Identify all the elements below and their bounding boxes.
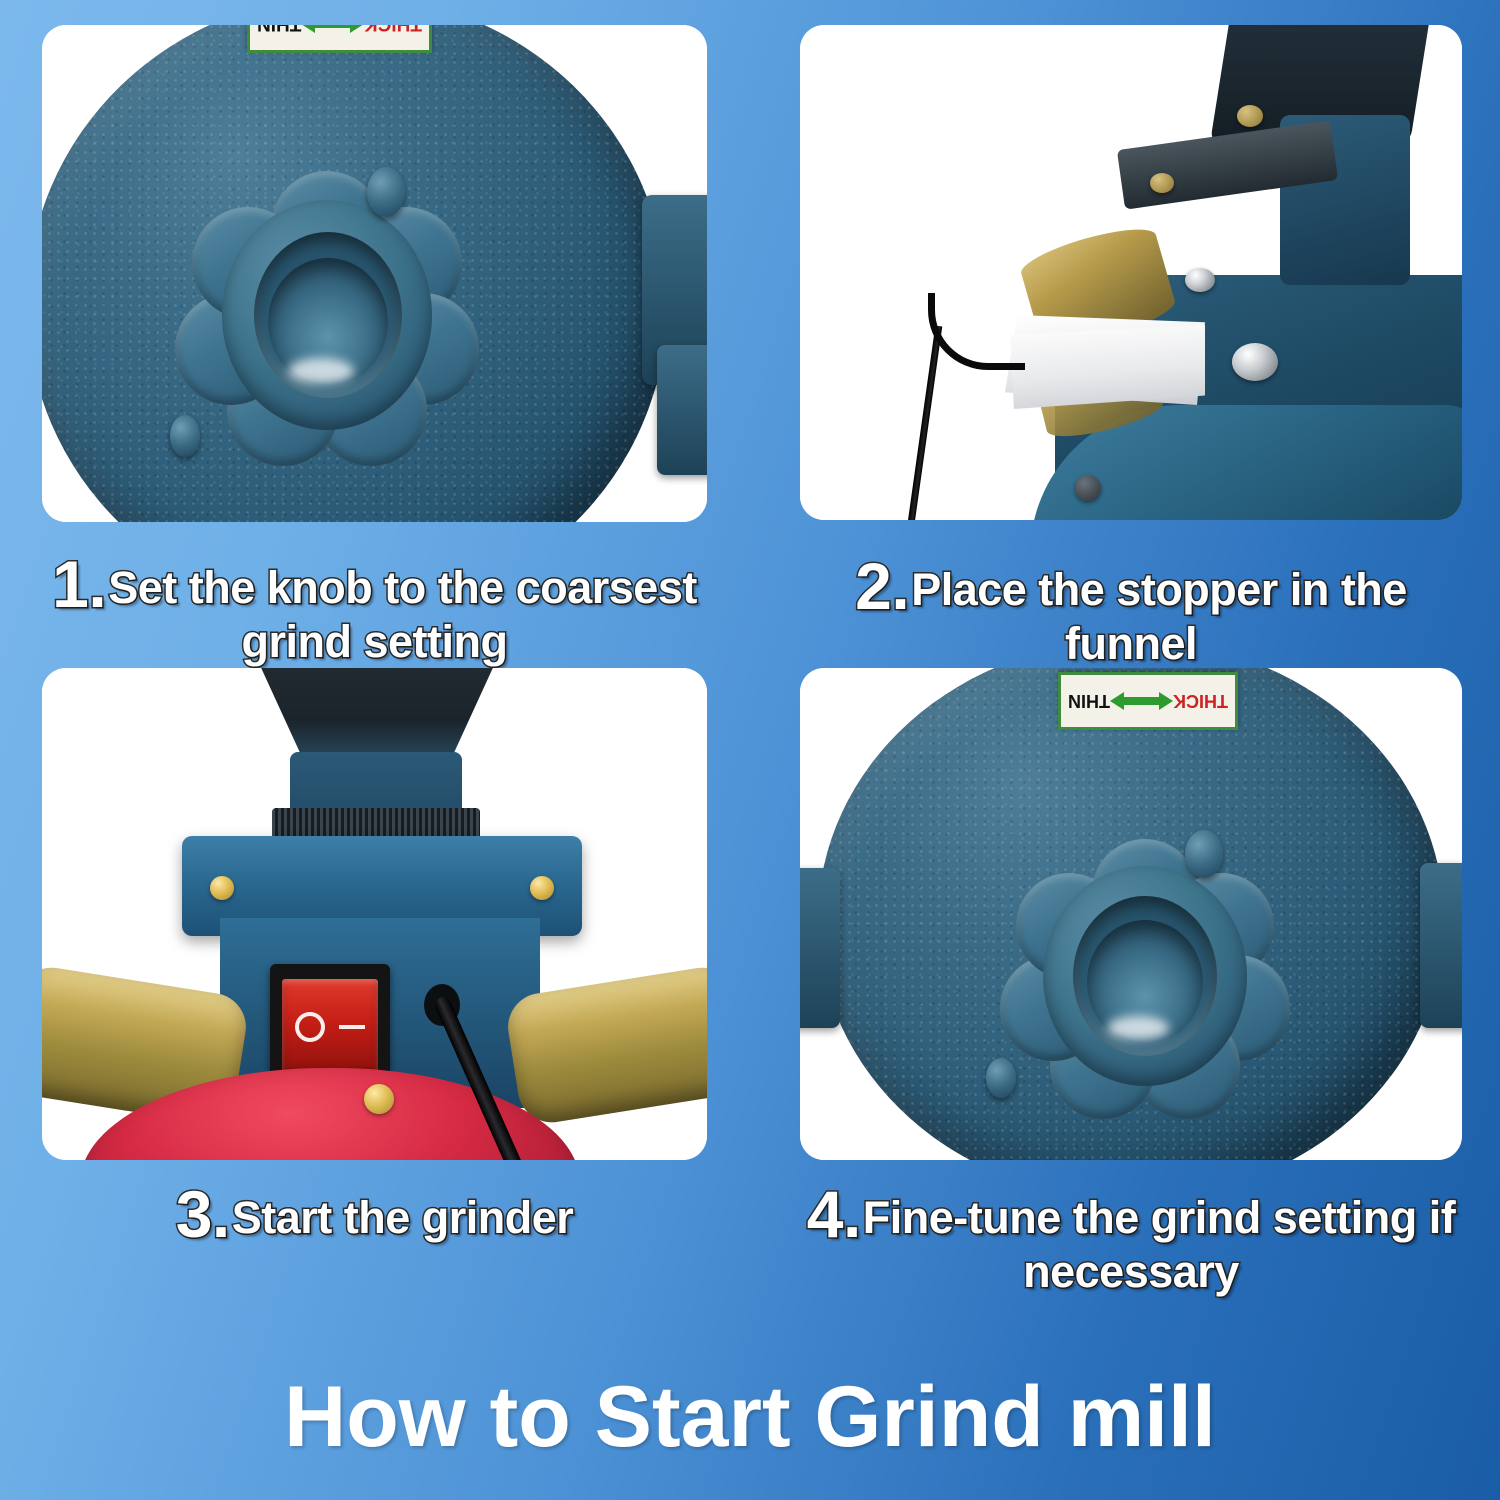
cap-screw-left bbox=[210, 876, 234, 900]
step-3-photo-panel bbox=[42, 668, 707, 1160]
grinder-switch-photo bbox=[42, 668, 707, 1160]
sticker-thick-label: THICK bbox=[364, 25, 422, 34]
power-cable-curve bbox=[928, 293, 1025, 370]
step-1-caption: 1.Set the knob to the coarsest grind set… bbox=[42, 550, 707, 665]
bolt-top-right bbox=[1237, 105, 1263, 127]
step-2-number: 2. bbox=[855, 549, 909, 623]
sticker-thin-label: THIN bbox=[1068, 692, 1110, 710]
step-4-text: Fine-tune the grind setting if necessary bbox=[863, 1192, 1455, 1297]
thick-thin-sticker: THICK THIN bbox=[1058, 672, 1238, 730]
grinder-arm-right bbox=[1420, 863, 1462, 1028]
knob-highlight bbox=[1107, 1016, 1169, 1040]
page-title: How to Start Grind mill bbox=[0, 1368, 1500, 1467]
grind-adjust-knob[interactable] bbox=[192, 170, 462, 460]
switch-off-symbol-icon bbox=[339, 1025, 365, 1029]
step-1-photo-panel: THICK THIN bbox=[42, 25, 707, 522]
funnel-stopper-photo bbox=[800, 25, 1462, 520]
knob-index-pin-top bbox=[367, 167, 405, 217]
step-4-number: 4. bbox=[807, 1177, 861, 1251]
thick-thin-sticker: THICK THIN bbox=[247, 25, 432, 53]
grinder-arm-left bbox=[800, 868, 840, 1028]
knob-highlight bbox=[288, 358, 354, 384]
bolt-screw-side bbox=[1075, 475, 1101, 501]
step-3-text: Start the grinder bbox=[232, 1192, 574, 1243]
power-cable bbox=[905, 326, 943, 520]
step-1-text: Set the knob to the coarsest grind setti… bbox=[108, 562, 697, 667]
knob-index-pin-left bbox=[170, 415, 200, 457]
switch-on-symbol-icon bbox=[295, 1012, 325, 1042]
step-4-caption: 4.Fine-tune the grind setting if necessa… bbox=[800, 1180, 1462, 1295]
power-rocker[interactable] bbox=[282, 979, 378, 1075]
step-2-caption: 2.Place the stopper in the funnel bbox=[800, 552, 1462, 667]
bolt-lower bbox=[1232, 343, 1278, 381]
knob-index-pin-top bbox=[1185, 830, 1223, 878]
grind-adjust-knob[interactable] bbox=[1015, 838, 1275, 1113]
bolt-bracket bbox=[1150, 173, 1174, 193]
grind-knob-wide-photo: THICK THIN bbox=[800, 668, 1462, 1160]
step-1-number: 1. bbox=[52, 547, 106, 621]
bolt-upper bbox=[1185, 268, 1215, 292]
step-3-number: 3. bbox=[176, 1177, 230, 1251]
infographic-root: THICK THIN bbox=[0, 0, 1500, 1500]
step-2-text: Place the stopper in the funnel bbox=[911, 564, 1407, 669]
cap-screw-right bbox=[530, 876, 554, 900]
grind-knob-closeup-photo: THICK THIN bbox=[42, 25, 707, 522]
base-screw bbox=[364, 1084, 394, 1114]
stopper-plate-face[interactable] bbox=[1010, 325, 1205, 409]
knob-index-pin-left bbox=[986, 1058, 1016, 1098]
sticker-thick-label: THICK bbox=[1173, 692, 1228, 710]
double-arrow-icon bbox=[301, 25, 364, 50]
grinder-arm-lower bbox=[657, 345, 707, 475]
step-2-photo-panel bbox=[800, 25, 1462, 520]
step-4-photo-panel: THICK THIN bbox=[800, 668, 1462, 1160]
sticker-thin-label: THIN bbox=[257, 25, 301, 34]
step-3-caption: 3.Start the grinder bbox=[42, 1180, 707, 1249]
double-arrow-icon bbox=[1110, 675, 1173, 727]
